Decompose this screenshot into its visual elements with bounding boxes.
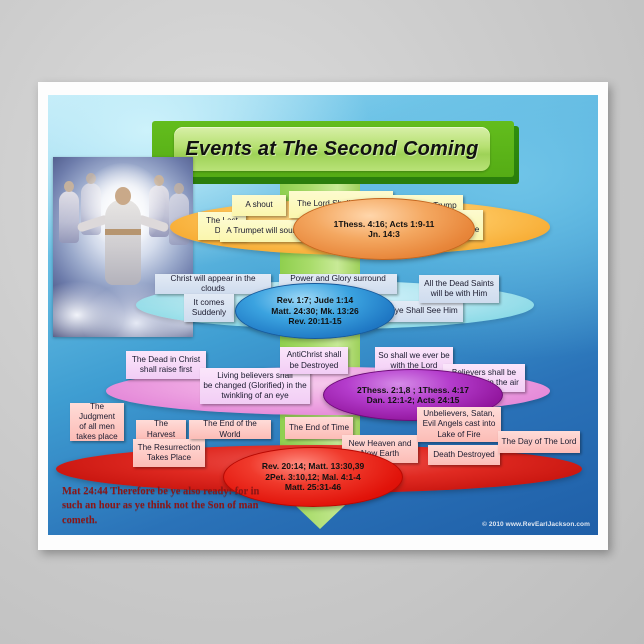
christ-head [115, 187, 131, 205]
copyright-notice: © 2010 www.RevEarlJackson.com [482, 521, 590, 528]
title-banner: Events at The Second Coming [152, 121, 514, 177]
page-title: Events at The Second Coming [185, 138, 478, 161]
event-box-unbelievers-lake-of-fire[interactable]: Unbelievers, Satan,Evil Angels cast into… [417, 407, 501, 442]
event-box-judgment-of-all-men[interactable]: The Judgmentof all mentakes place [70, 403, 124, 441]
christ-sash [105, 229, 141, 235]
scripture-ellipse-blue[interactable]: Rev. 1:7; Jude 1:14Matt. 24:30; Mk. 13:2… [235, 283, 395, 339]
event-box-end-of-the-world[interactable]: The End of the World [189, 420, 271, 439]
event-box-comes-suddenly[interactable]: It comesSuddenly [184, 294, 234, 322]
event-box-a-shout[interactable]: A shout [232, 195, 286, 216]
event-box-dead-in-christ[interactable]: The Dead in Christshall raise first [126, 351, 206, 379]
event-box-antichrist-destroyed[interactable]: AntiChrist shallbe Destroyed [280, 347, 348, 374]
poster-artwork: Events at The Second Coming The LastDay … [48, 95, 598, 535]
scripture-ellipse-orange[interactable]: 1Thess. 4:16; Acts 1:9-11Jn. 14:3 [293, 198, 475, 260]
title-plate: Events at The Second Coming [174, 127, 490, 171]
event-box-dead-saints[interactable]: All the Dead Saintswill be with Him [419, 275, 499, 303]
christ-figure [105, 199, 141, 285]
event-box-the-harvest[interactable]: The Harvest [136, 420, 186, 439]
event-box-death-destroyed[interactable]: Death Destroyed [428, 445, 500, 465]
angel-figure [59, 191, 79, 243]
event-box-day-of-the-lord[interactable]: The Day of The Lord [498, 431, 580, 453]
poster-paper: Events at The Second Coming The LastDay … [38, 82, 608, 550]
event-box-resurrection-takes-place[interactable]: The ResurrectionTakes Place [133, 439, 205, 467]
event-box-appear-in-clouds[interactable]: Christ will appear in the clouds [155, 274, 271, 294]
scripture-quote: Mat 24:44 Therefore be ye also ready: fo… [62, 485, 262, 528]
